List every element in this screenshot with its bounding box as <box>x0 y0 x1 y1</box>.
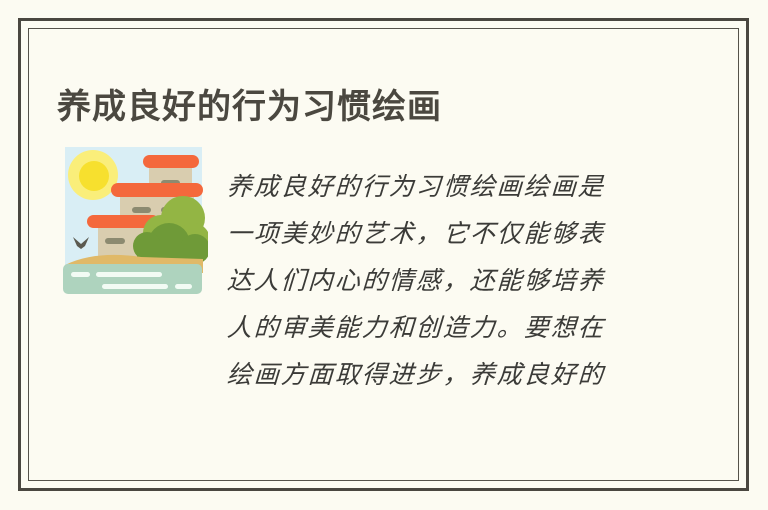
page-root: 养成良好的行为习惯绘画 <box>0 0 768 510</box>
article-line: 人的审美能力和创造力。要想在 <box>226 304 650 351</box>
seaside-village-illustration <box>57 143 208 297</box>
article-line: 一项美妙的艺术，它不仅能够表 <box>226 210 650 257</box>
article-body: 养成良好的行为习惯绘画绘画是 一项美妙的艺术，它不仅能够表 达人们内心的情感，还… <box>227 163 649 398</box>
article-line: 绘画方面取得进步，养成良好的 <box>226 351 650 398</box>
article-line: 养成良好的行为习惯绘画绘画是 <box>226 163 650 210</box>
page-title: 养成良好的行为习惯绘画 <box>57 85 442 129</box>
article-line: 达人们内心的情感，还能够培养 <box>226 257 650 304</box>
